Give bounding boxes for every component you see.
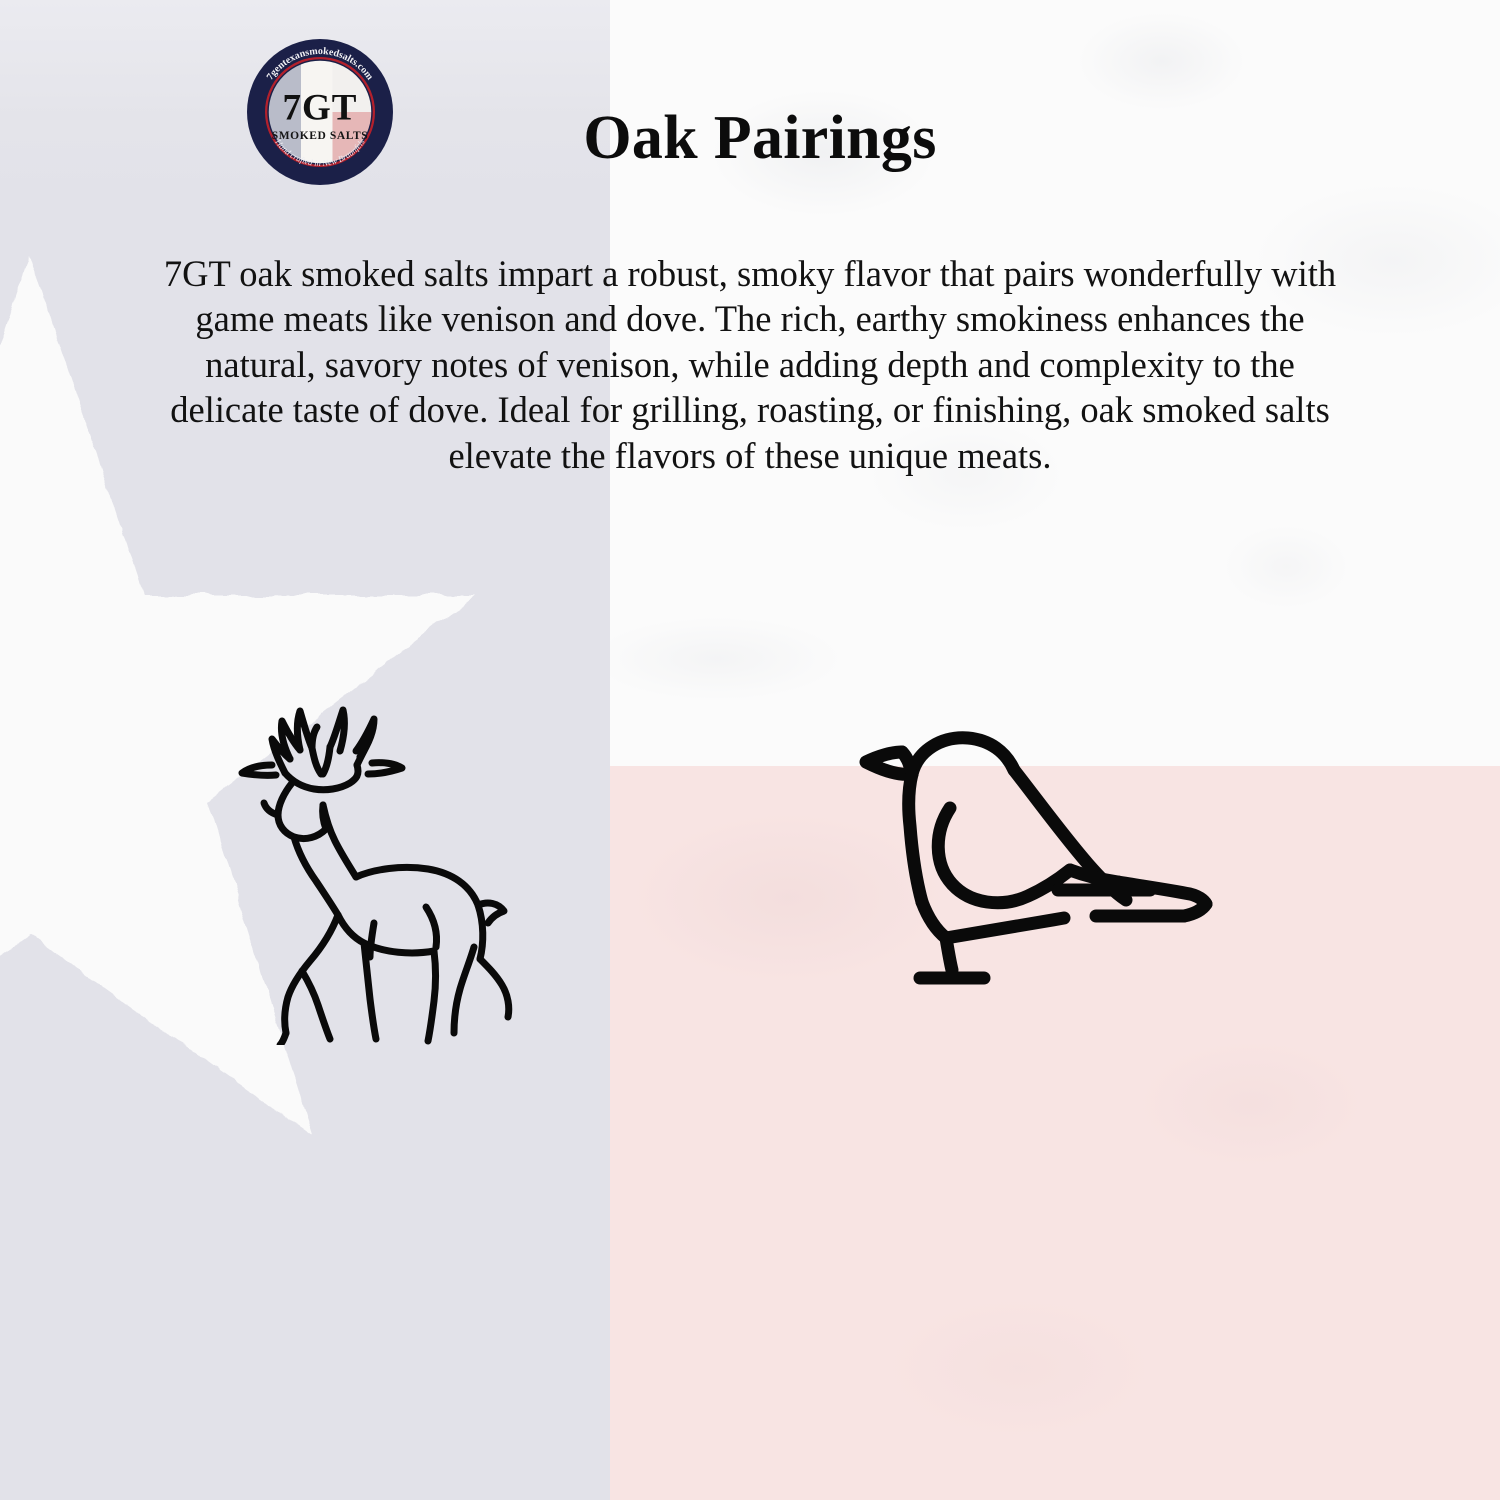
logo-subtitle: SMOKED SALTS <box>272 130 369 142</box>
dove-illustration <box>850 712 1220 1017</box>
logo-monogram: 7GT <box>283 88 358 129</box>
brand-logo[interactable]: 7gentexansmokedsalts.com Hand crafted in… <box>245 37 395 187</box>
deer-illustration <box>222 655 522 1045</box>
poster-canvas: 7gentexansmokedsalts.com Hand crafted in… <box>0 0 1500 1500</box>
page-title: Oak Pairings <box>420 104 1100 173</box>
body-paragraph: 7GT oak smoked salts impart a robust, sm… <box>150 251 1350 479</box>
